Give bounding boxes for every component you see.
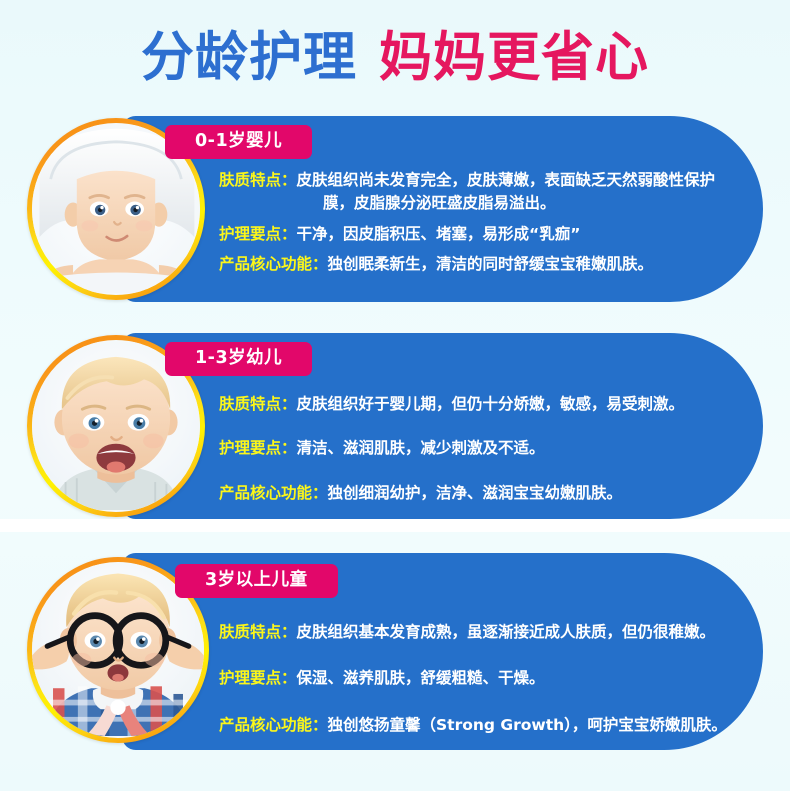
row-care-points: 护理要点：清洁、滋润肌肤，减少刺激及不适。	[219, 437, 741, 460]
row-label: 产品核心功能：	[219, 484, 328, 502]
row-care-points: 护理要点：干净，因皮脂积压、堵塞，易形成“乳痂”	[219, 223, 741, 246]
row-core-function: 产品核心功能：独创细润幼护，洁净、滋润宝宝幼嫩肌肤。	[219, 482, 741, 505]
section-seam	[0, 519, 790, 532]
row-text: 独创眠柔新生，清洁的同时舒缓宝宝稚嫩肌肤。	[328, 255, 654, 273]
age-badge: 0-1岁婴儿	[165, 125, 312, 159]
row-text: 皮肤组织尚未发育完全，皮肤薄嫩，表面缺乏天然弱酸性保护膜，皮脂腺分泌旺盛皮脂易溢…	[297, 171, 716, 212]
row-label: 护理要点：	[219, 225, 297, 243]
age-card-3-plus: 3岁以上儿童 肤质特点：皮肤组织基本发育成熟，虽逐渐接近成人肤质，但仍很稚嫩。 …	[27, 553, 763, 750]
age-card-0-1: 0-1岁婴儿 肤质特点：皮肤组织尚未发育完全，皮肤薄嫩，表面缺乏天然弱酸性保护膜…	[27, 116, 763, 302]
row-text: 独创悠扬童馨（Strong Growth），呵护宝宝娇嫩肌肤。	[328, 716, 727, 734]
row-label: 护理要点：	[219, 669, 297, 687]
row-text: 皮肤组织好于婴儿期，但仍十分娇嫩，敏感，易受刺激。	[297, 395, 685, 413]
row-text: 清洁、滋润肌肤，减少刺激及不适。	[297, 439, 545, 457]
row-skin-traits: 肤质特点：皮肤组织好于婴儿期，但仍十分娇嫩，敏感，易受刺激。	[219, 393, 741, 416]
row-core-function: 产品核心功能：独创眠柔新生，清洁的同时舒缓宝宝稚嫩肌肤。	[219, 253, 741, 276]
age-badge: 1-3岁幼儿	[165, 342, 312, 376]
row-label: 肤质特点：	[219, 171, 297, 189]
row-text: 皮肤组织基本发育成熟，虽逐渐接近成人肤质，但仍很稚嫩。	[297, 623, 716, 641]
page-title-blue: 分龄护理	[141, 27, 357, 88]
row-label: 肤质特点：	[219, 623, 297, 641]
row-skin-traits: 肤质特点：皮肤组织基本发育成熟，虽逐渐接近成人肤质，但仍很稚嫩。	[219, 621, 741, 644]
row-text: 保湿、滋养肌肤，舒缓粗糙、干燥。	[297, 669, 545, 687]
row-label: 护理要点：	[219, 439, 297, 457]
card-rows: 肤质特点：皮肤组织尚未发育完全，皮肤薄嫩，表面缺乏天然弱酸性保护膜，皮脂腺分泌旺…	[219, 169, 741, 276]
row-core-function: 产品核心功能：独创悠扬童馨（Strong Growth），呵护宝宝娇嫩肌肤。	[219, 714, 741, 737]
row-skin-traits: 肤质特点：皮肤组织尚未发育完全，皮肤薄嫩，表面缺乏天然弱酸性保护膜，皮脂腺分泌旺…	[219, 169, 741, 216]
row-label: 产品核心功能：	[219, 255, 328, 273]
row-text: 干净，因皮脂积压、堵塞，易形成“乳痂”	[297, 225, 581, 243]
age-card-1-3: 1-3岁幼儿 肤质特点：皮肤组织好于婴儿期，但仍十分娇嫩，敏感，易受刺激。 护理…	[27, 333, 763, 519]
row-text: 独创细润幼护，洁净、滋润宝宝幼嫩肌肤。	[328, 484, 623, 502]
age-badge: 3岁以上儿童	[175, 564, 338, 598]
row-label: 产品核心功能：	[219, 716, 328, 734]
card-rows: 肤质特点：皮肤组织基本发育成熟，虽逐渐接近成人肤质，但仍很稚嫩。 护理要点：保湿…	[219, 621, 741, 737]
row-care-points: 护理要点：保湿、滋养肌肤，舒缓粗糙、干燥。	[219, 667, 741, 690]
page-title-pink: 妈妈更省心	[379, 27, 649, 88]
card-rows: 肤质特点：皮肤组织好于婴儿期，但仍十分娇嫩，敏感，易受刺激。 护理要点：清洁、滋…	[219, 393, 741, 505]
page-title: 分龄护理妈妈更省心	[0, 31, 790, 84]
row-label: 肤质特点：	[219, 395, 297, 413]
